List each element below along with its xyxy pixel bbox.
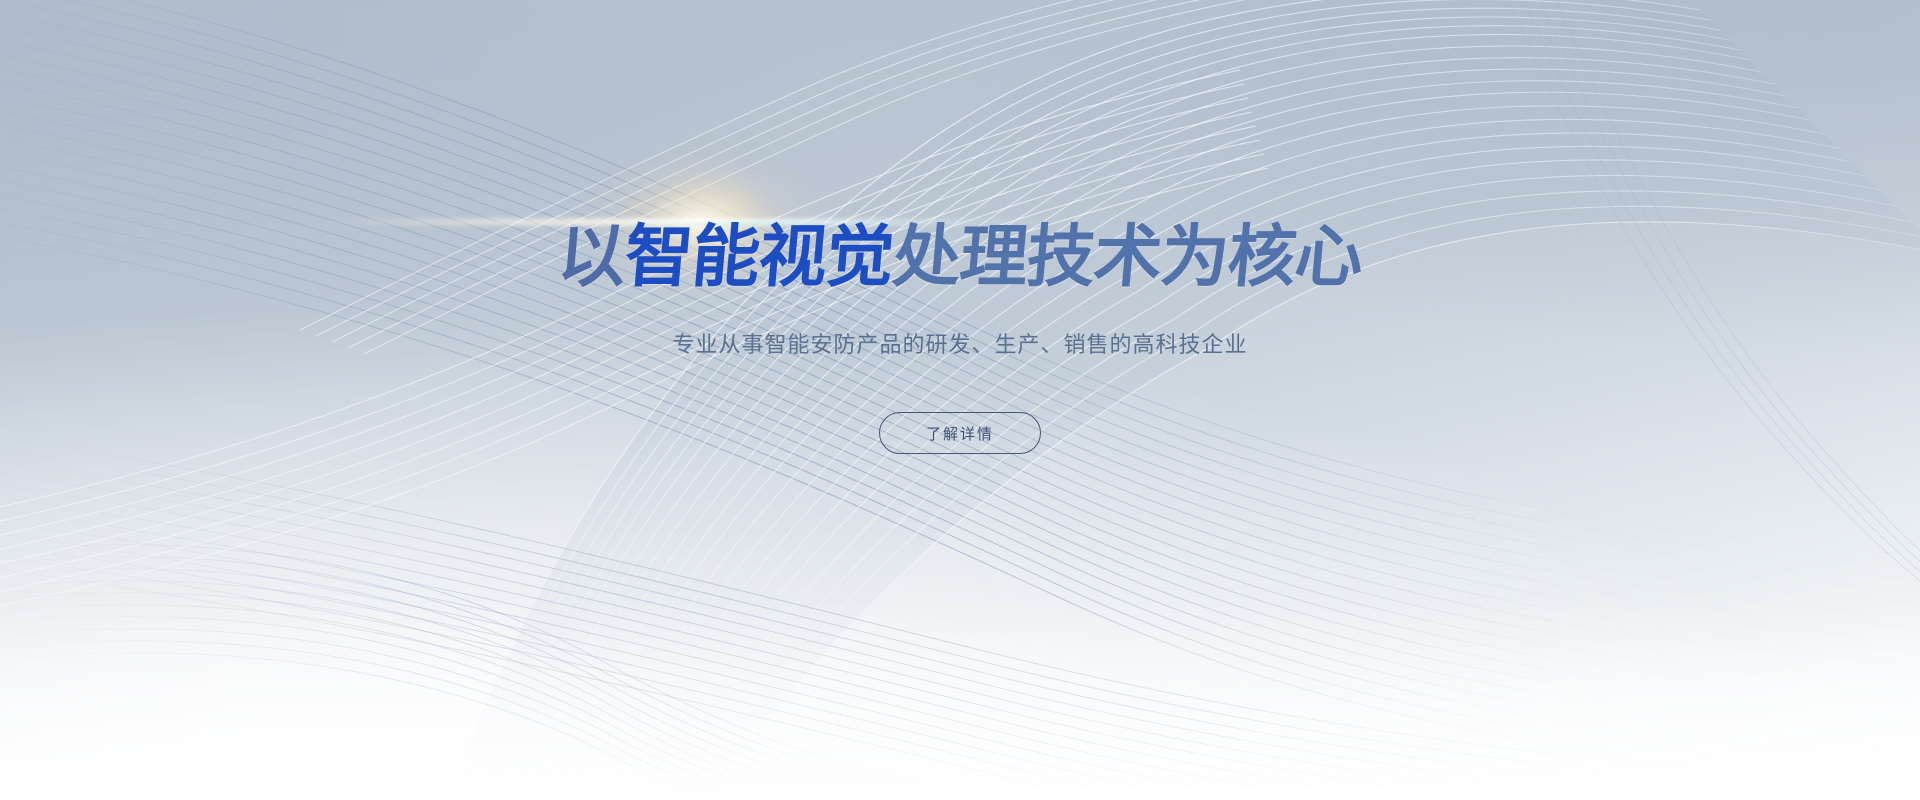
page-subtitle: 专业从事智能安防产品的研发、生产、销售的高科技企业 (0, 330, 1920, 362)
headline-segment-3: 处理技术为核心 (890, 218, 1366, 297)
page-title: 以智能视觉处理技术为核心 (0, 218, 1920, 298)
hero-banner: 以智能视觉处理技术为核心 专业从事智能安防产品的研发、生产、销售的高科技企业 了… (0, 0, 1920, 800)
cta-container: 了解详情 (0, 412, 1920, 454)
learn-more-button[interactable]: 了解详情 (879, 412, 1041, 454)
headline-segment-2: 智能视觉 (622, 218, 897, 297)
wave-ribbon-icon (0, 0, 1920, 800)
headline-segment-1: 以 (555, 218, 629, 297)
